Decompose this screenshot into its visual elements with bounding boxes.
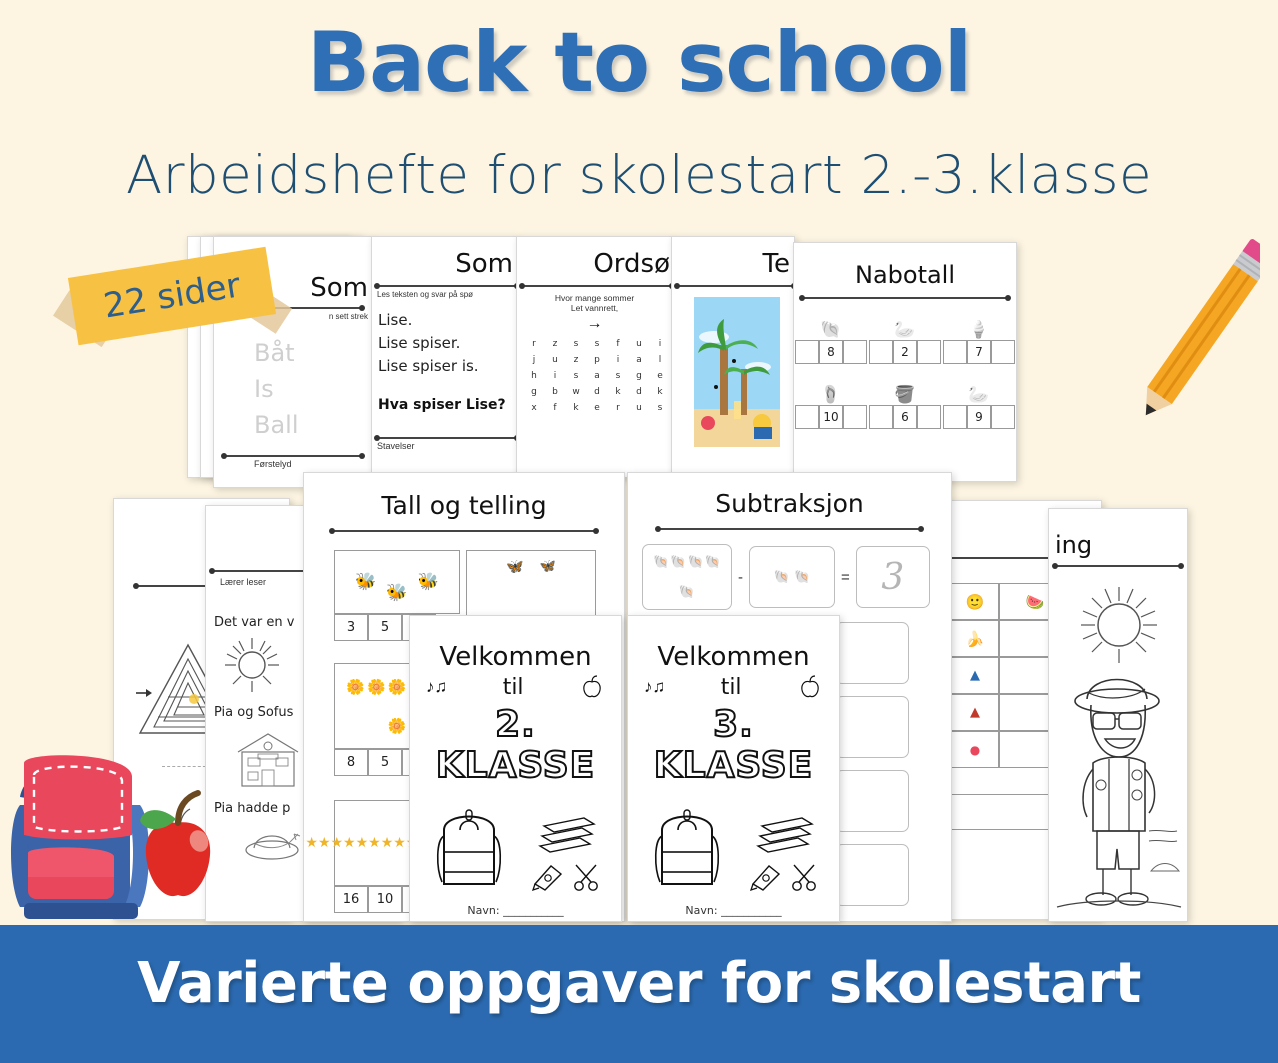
velkommen-line-1: Velkommen: [410, 642, 621, 672]
nabotall-item: 🪣6: [869, 386, 941, 429]
count-picture-bees: 🐝 🐝 🐝: [334, 550, 460, 614]
crayon-icon: [531, 862, 565, 892]
ordsok-letter[interactable]: a: [592, 371, 602, 381]
bee-icon: 🐝: [355, 572, 376, 592]
pencil-icon: [1140, 236, 1260, 436]
icecream-icon: 🍦: [968, 321, 989, 338]
nabotall-given-value[interactable]: 10: [819, 405, 843, 429]
sheet-title: Subtraksjon: [628, 489, 951, 518]
apple-icon: [579, 674, 605, 700]
ordsok-grid-row: juzpial: [529, 355, 672, 365]
nabotall-item: 🦢2: [869, 321, 941, 364]
red-small-icon: ●: [951, 731, 999, 768]
nabotall-blank-box[interactable]: [917, 340, 941, 364]
ordsok-letter[interactable]: k: [613, 387, 623, 397]
ordsok-letter[interactable]: d: [592, 387, 602, 397]
flamingo-ring-icon: 🦢: [894, 321, 915, 338]
shell-icon: 🐚: [688, 554, 704, 570]
nabotall-blank-box[interactable]: [869, 405, 893, 429]
sheet-velkommen-3[interactable]: Velkommen ♪♫ til 3. KLASSE: [627, 615, 840, 922]
count-option[interactable]: 10: [368, 886, 402, 913]
nabotall-blank-box[interactable]: [795, 405, 819, 429]
nabotall-boxes[interactable]: 9: [943, 405, 1015, 429]
ordsok-instruction-2: Let vannrett,: [517, 303, 672, 313]
hat-icon: [232, 820, 312, 870]
bottom-banner: Varierte oppgaver for skolestart: [0, 925, 1278, 1063]
answer-box-blank[interactable]: [835, 844, 909, 906]
velkommen-line-2: til: [721, 675, 742, 700]
shell-group-subtrahend: 🐚 🐚: [749, 546, 835, 608]
page-title: Back to school: [0, 14, 1278, 111]
nabotall-given-value[interactable]: 9: [967, 405, 991, 429]
shell-icon: 🐚: [820, 321, 841, 338]
read-line: Lise spiser.: [378, 334, 517, 352]
sandbucket-icon: 🪣: [894, 386, 915, 403]
shell-icon: 🐚: [670, 554, 686, 570]
count-picture-butterflies: 🦋 🦋: [466, 550, 596, 622]
velkommen-line-2: til: [503, 675, 524, 700]
nabotall-blank-box[interactable]: [843, 340, 867, 364]
nabotall-item: 🍦7: [943, 321, 1015, 364]
nabotall-boxes[interactable]: 7: [943, 340, 1015, 364]
ordsok-instruction-1: Hvor mange sommer: [517, 293, 672, 303]
ordsok-letter[interactable]: g: [634, 371, 644, 381]
nabotall-rows: 🐚8🦢2🍦7🩴10🪣6🦢9: [794, 321, 1016, 429]
ordsok-letter[interactable]: s: [571, 371, 581, 381]
palm-beach-scene-icon: [694, 297, 780, 447]
backpack-icon: [430, 796, 508, 892]
count-option[interactable]: 8: [334, 749, 368, 776]
ordsok-letter[interactable]: k: [655, 387, 665, 397]
ordsok-grid-row: rzssfui: [529, 339, 672, 349]
apple-icon: [140, 793, 211, 896]
nabotall-blank-box[interactable]: [917, 405, 941, 429]
ordsok-letter[interactable]: s: [655, 403, 665, 413]
ordsok-letter[interactable]: e: [655, 371, 665, 381]
ordsok-letter[interactable]: z: [571, 355, 581, 365]
smiley-icon: 🙂: [951, 583, 999, 620]
trace-word: Is: [254, 375, 372, 403]
ordsok-letter[interactable]: s: [592, 339, 602, 349]
music-note-icon: ♪♫: [426, 677, 447, 697]
nabotall-blank-box[interactable]: [869, 340, 893, 364]
music-note-icon: ♪♫: [644, 677, 665, 697]
blue-shape-icon: ▲: [951, 657, 999, 694]
banner-text: Varierte oppgaver for skolestart: [0, 951, 1278, 1016]
flamingo-ring-icon: 🦢: [968, 386, 989, 403]
flipflops-icon: 🩴: [820, 386, 841, 403]
nabotall-blank-box[interactable]: [943, 340, 967, 364]
ordsok-grid-row: gbwdkdk: [529, 387, 672, 397]
school-icon: [228, 728, 308, 790]
crayon-icon: [749, 862, 783, 892]
trace-word: Ball: [254, 411, 372, 439]
ordsok-letter[interactable]: h: [529, 371, 539, 381]
backpack-icon: [11, 755, 149, 919]
name-field-label[interactable]: Navn: ___________: [628, 904, 839, 917]
bee-icon: 🐝: [386, 583, 407, 603]
nabotall-boxes[interactable]: 2: [869, 340, 941, 364]
velkommen-line-1: Velkommen: [628, 642, 839, 672]
arrow-icon: →: [517, 315, 672, 333]
poster-root: Back to school Arbeidshefte for skolesta…: [0, 0, 1278, 1063]
ordsok-letter[interactable]: k: [571, 403, 581, 413]
sheet-ordsok[interactable]: Ordsø Hvor mange sommer Let vannrett, → …: [516, 236, 673, 478]
ordsok-letter[interactable]: l: [655, 355, 665, 365]
flower-icon: 🌼: [388, 678, 407, 696]
read-question: Hva spiser Lise?: [378, 397, 517, 413]
nabotall-boxes[interactable]: 8: [795, 340, 867, 364]
ordsok-letter[interactable]: u: [550, 355, 560, 365]
sheet-title: Tall og telling: [304, 491, 624, 520]
ordsok-letter[interactable]: s: [571, 339, 581, 349]
minus-sign: -: [738, 569, 743, 586]
flower-icon: 🌼: [388, 717, 407, 735]
count-option[interactable]: 3: [334, 614, 368, 641]
answer-box-blank[interactable]: [835, 696, 909, 758]
sheet-sommer-read[interactable]: Som Les teksten og svar på spø Lise. Lis…: [371, 236, 518, 480]
ordsok-letter[interactable]: d: [634, 387, 644, 397]
bee-icon: 🐝: [418, 572, 439, 592]
beach-boy-coloring-icon: [1053, 573, 1183, 913]
count-option[interactable]: 5: [368, 614, 402, 641]
shell-icon: 🐚: [653, 554, 669, 570]
ordsok-grid-row: xfkerus: [529, 403, 672, 413]
backpack-apple-illustration: [0, 735, 240, 935]
flower-icon: 🌼: [346, 678, 365, 696]
red-triangle-icon: ▲: [951, 694, 999, 731]
sheet-title: Te: [672, 249, 794, 279]
name-field-label[interactable]: Navn: ___________: [410, 904, 621, 917]
shell-icon: 🐚: [774, 569, 790, 585]
nabotall-given-value[interactable]: 7: [967, 340, 991, 364]
ordsok-letter[interactable]: i: [655, 339, 665, 349]
backpack-icon: [648, 796, 726, 892]
ordsok-letter[interactable]: z: [550, 339, 560, 349]
nabotall-blank-box[interactable]: [943, 405, 967, 429]
ordsok-grid: rzssfuijuzpialhisasgegbwdkdkxfkerus: [529, 339, 672, 413]
sheet-instruction: Les teksten og svar på spø: [372, 290, 517, 299]
nabotall-item: 🦢9: [943, 386, 1015, 429]
ordsok-letter[interactable]: b: [550, 387, 560, 397]
sheet-title: Som: [372, 249, 517, 279]
ordsok-letter[interactable]: s: [613, 371, 623, 381]
ordsok-letter[interactable]: a: [634, 355, 644, 365]
ordsok-letter[interactable]: g: [529, 387, 539, 397]
scissors-icon: [571, 862, 601, 892]
butterfly-icon: 🦋: [506, 559, 523, 575]
sheet-fargelegging[interactable]: ing: [1048, 508, 1188, 922]
sun-icon: [222, 636, 282, 694]
sheet-footer: Førstelyd: [214, 459, 372, 469]
nabotall-given-value[interactable]: 2: [893, 340, 917, 364]
shell-group-minuend: 🐚 🐚 🐚 🐚 🐚: [642, 544, 732, 610]
sheet-velkommen-2[interactable]: Velkommen ♪♫ til 2. KLASSE: [409, 615, 622, 922]
nabotall-blank-box[interactable]: [991, 405, 1015, 429]
sheet-nabotall[interactable]: Nabotall 🐚8🦢2🍦7🩴10🪣6🦢9: [793, 242, 1017, 482]
answer-box-blank[interactable]: [835, 770, 909, 832]
nabotall-given-value[interactable]: 6: [893, 405, 917, 429]
read-line: Lise.: [378, 311, 517, 329]
sheet-tekst-palm[interactable]: Te: [671, 236, 795, 478]
banana-icon: 🍌: [951, 620, 999, 657]
books-icon: [752, 814, 816, 858]
nabotall-boxes[interactable]: 10: [795, 405, 867, 429]
ordsok-letter[interactable]: r: [613, 403, 623, 413]
ordsok-letter[interactable]: f: [550, 403, 560, 413]
ordsok-letter[interactable]: e: [592, 403, 602, 413]
velkommen-klasse: 2. KLASSE: [410, 704, 621, 786]
page-subtitle: Arbeidshefte for skolestart 2.-3.klasse: [0, 145, 1278, 206]
nabotall-row: 🩴10🪣6🦢9: [794, 386, 1016, 429]
ordsok-letter[interactable]: i: [550, 371, 560, 381]
shell-icon: 🐚: [679, 584, 695, 600]
nabotall-given-value[interactable]: 8: [819, 340, 843, 364]
ordsok-letter[interactable]: u: [634, 403, 644, 413]
ordsok-letter[interactable]: i: [613, 355, 623, 365]
trace-word: Båt: [254, 339, 372, 367]
shell-icon: 🐚: [705, 554, 721, 570]
sheet-footer: Stavelser: [372, 441, 517, 451]
read-line: Lise spiser is.: [378, 357, 517, 375]
velkommen-klasse: 3. KLASSE: [628, 704, 839, 786]
nabotall-row: 🐚8🦢2🍦7: [794, 321, 1016, 364]
sheet-title: ing: [1049, 531, 1187, 559]
ordsok-letter[interactable]: p: [592, 355, 602, 365]
sheet-title: Ordsø: [517, 249, 672, 279]
shell-icon: 🐚: [794, 569, 810, 585]
nabotall-blank-box[interactable]: [843, 405, 867, 429]
ordsok-letter[interactable]: w: [571, 387, 581, 397]
ordsok-grid-row: hisasge: [529, 371, 672, 381]
nabotall-item: 🐚8: [795, 321, 867, 364]
nabotall-item: 🩴10: [795, 386, 867, 429]
nabotall-boxes[interactable]: 6: [869, 405, 941, 429]
apple-icon: [797, 674, 823, 700]
butterfly-icon: 🦋: [540, 559, 556, 574]
ordsok-letter[interactable]: j: [529, 355, 539, 365]
books-icon: [534, 814, 598, 858]
ordsok-letter[interactable]: r: [529, 339, 539, 349]
ordsok-letter[interactable]: x: [529, 403, 539, 413]
count-option[interactable]: 16: [334, 886, 368, 913]
ordsok-letter[interactable]: u: [634, 339, 644, 349]
equals-sign: =: [841, 569, 850, 586]
flower-icon: 🌼: [367, 678, 386, 696]
answer-box-blank[interactable]: [835, 622, 909, 684]
sheet-title: Nabotall: [794, 261, 1016, 289]
ordsok-letter[interactable]: f: [613, 339, 623, 349]
count-option[interactable]: 5: [368, 749, 402, 776]
nabotall-blank-box[interactable]: [795, 340, 819, 364]
scissors-icon: [789, 862, 819, 892]
nabotall-blank-box[interactable]: [991, 340, 1015, 364]
answer-box-filled[interactable]: 3: [856, 546, 930, 608]
